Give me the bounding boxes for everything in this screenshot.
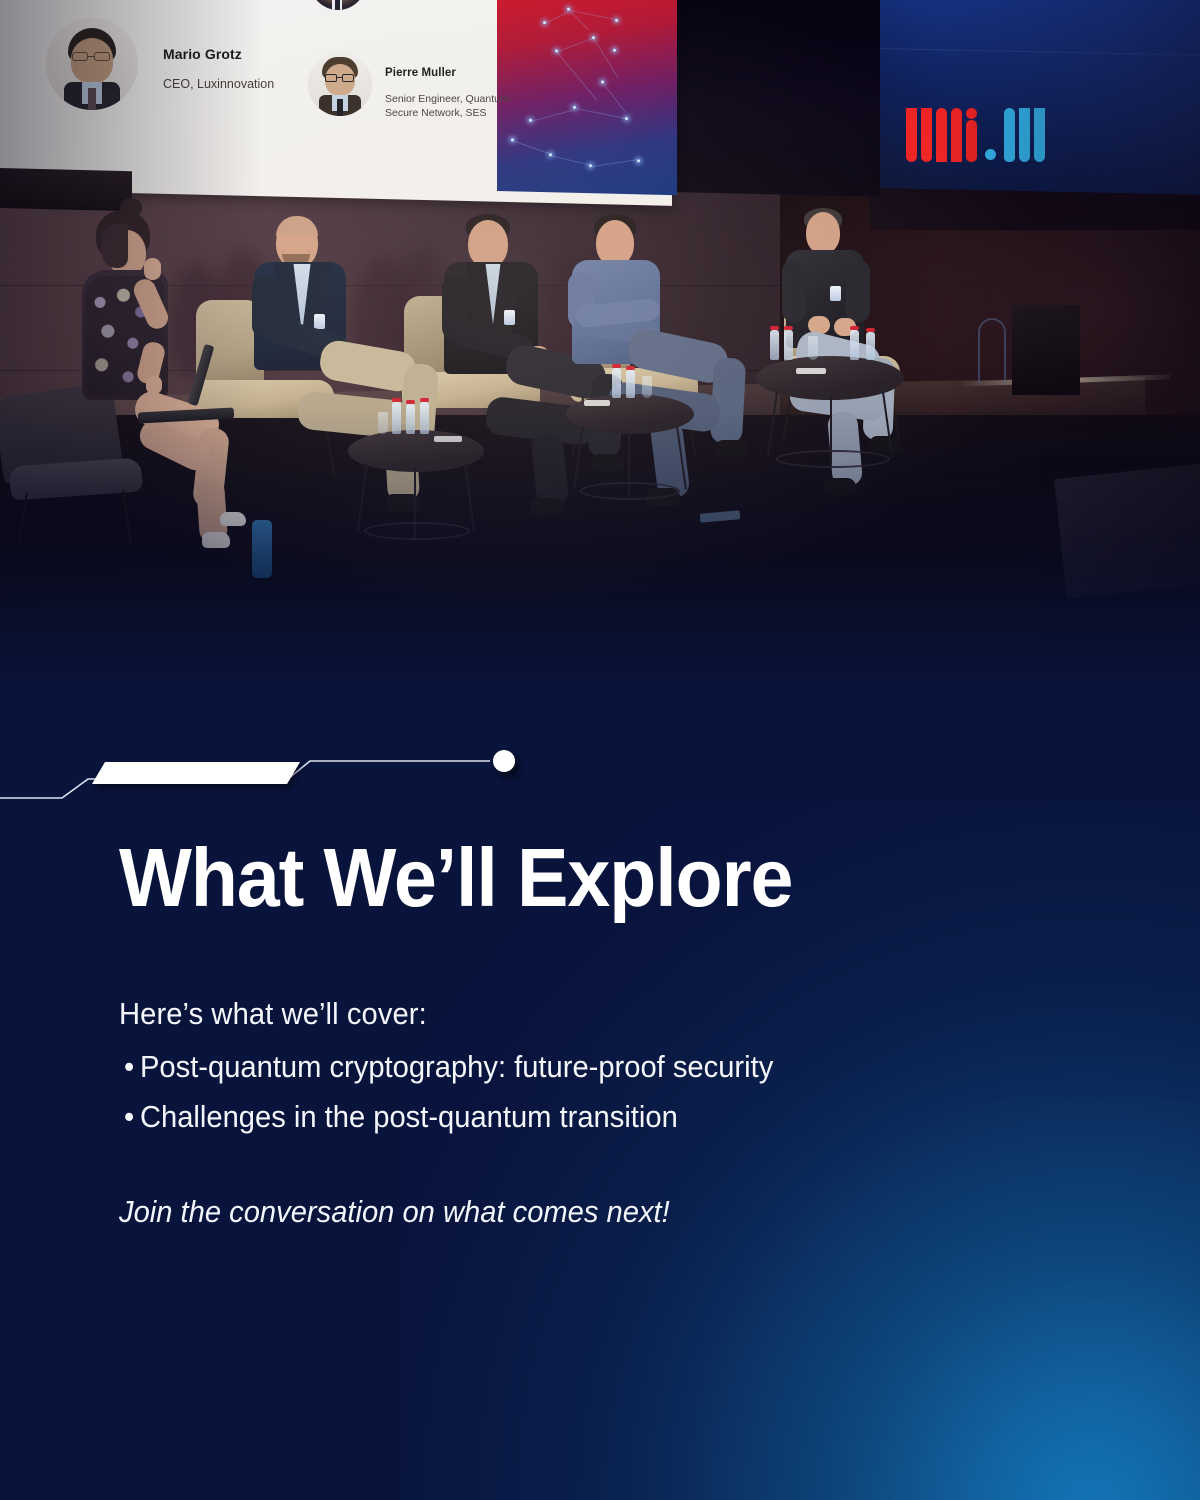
poster-canvas: Mario Grotz CEO, Luxinnovation Pierre Mu…: [0, 0, 1200, 1500]
bullet-icon: •: [124, 1092, 140, 1142]
deco-endpoint-dot: [493, 750, 515, 772]
list-item: •Challenges in the post-quantum transiti…: [124, 1092, 773, 1142]
deco-bar: [92, 762, 300, 784]
photo-tint-overlay: [0, 0, 1200, 700]
list-item-label: Post-quantum cryptography: future-proof …: [140, 1049, 773, 1084]
topic-list: •Post-quantum cryptography: future-proof…: [124, 1042, 773, 1142]
stage-photo-inner: Mario Grotz CEO, Luxinnovation Pierre Mu…: [0, 0, 1200, 700]
list-item-label: Challenges in the post-quantum transitio…: [140, 1099, 678, 1134]
closing-call-to-action: Join the conversation on what comes next…: [119, 1194, 670, 1230]
panel-glow-inner: [700, 1100, 1200, 1500]
stage-photo: Mario Grotz CEO, Luxinnovation Pierre Mu…: [0, 0, 1200, 700]
deco-upper-line: [288, 761, 490, 779]
decorative-stepped-line: [0, 735, 560, 815]
lead-text: Here’s what we’ll cover:: [119, 996, 427, 1032]
bullet-icon: •: [124, 1042, 140, 1092]
list-item: •Post-quantum cryptography: future-proof…: [124, 1042, 773, 1092]
page-title: What We’ll Explore: [119, 836, 792, 919]
